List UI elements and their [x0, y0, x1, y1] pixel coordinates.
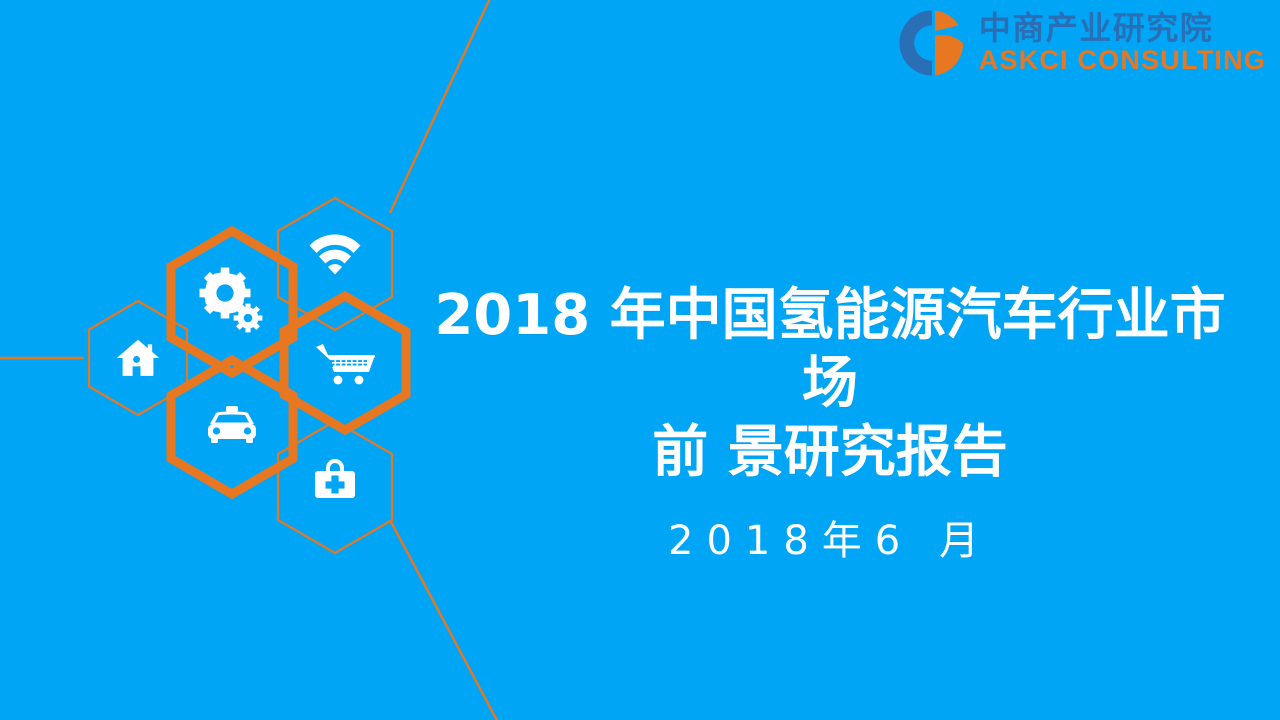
- shopping-cart-icon: [316, 344, 375, 384]
- hexagon-outline-home: [89, 301, 187, 415]
- logo-orange-half: [935, 35, 963, 76]
- report-cover-slide: 中商产业研究院 ASKCI CONSULTING 2018 年中国氢能源汽车行业…: [0, 0, 1280, 720]
- logo-company-name-cn: 中商产业研究院: [979, 12, 1214, 44]
- hexagon-taxi: [171, 360, 293, 494]
- askci-logo: 中商产业研究院 ASKCI CONSULTING: [895, 6, 1266, 80]
- page-subtitle-date: 2018年6 月: [420, 521, 1240, 561]
- hexagon-gears: [171, 231, 293, 373]
- hexagon-cart: [284, 296, 406, 430]
- hexagon-medical: [278, 421, 392, 553]
- wifi-icon: [310, 234, 361, 274]
- logo-wordmark: 中商产业研究院 ASKCI CONSULTING: [979, 12, 1266, 74]
- page-title-line-2: 前 景研究报告: [420, 419, 1240, 487]
- hexagon-wifi: [278, 198, 392, 330]
- gears-icon: [200, 268, 263, 333]
- taxi-car-icon: [208, 406, 256, 443]
- hexagon-outline-cart: [284, 296, 406, 430]
- logo-company-name-en: ASKCI CONSULTING: [979, 47, 1266, 74]
- line-top-right: [390, 0, 492, 213]
- hexagon-outline-wifi: [278, 198, 392, 330]
- title-block: 2018 年中国氢能源汽车行业市场 前 景研究报告 2018年6 月: [420, 282, 1240, 561]
- first-aid-kit-icon: [315, 459, 355, 498]
- home-icon: [117, 340, 159, 376]
- logo-orange-dot: [935, 10, 959, 31]
- page-title-line-1: 2018 年中国氢能源汽车行业市场: [420, 282, 1240, 419]
- hexagon-outline-medical: [278, 421, 392, 553]
- page-title: 2018 年中国氢能源汽车行业市场 前 景研究报告: [420, 282, 1240, 487]
- hexagon-outline-gears: [171, 231, 293, 373]
- askci-logo-mark: [895, 6, 969, 80]
- hexagon-outline-taxi: [171, 360, 293, 494]
- hexagon-home: [89, 301, 187, 415]
- logo-c-shape: [899, 10, 932, 75]
